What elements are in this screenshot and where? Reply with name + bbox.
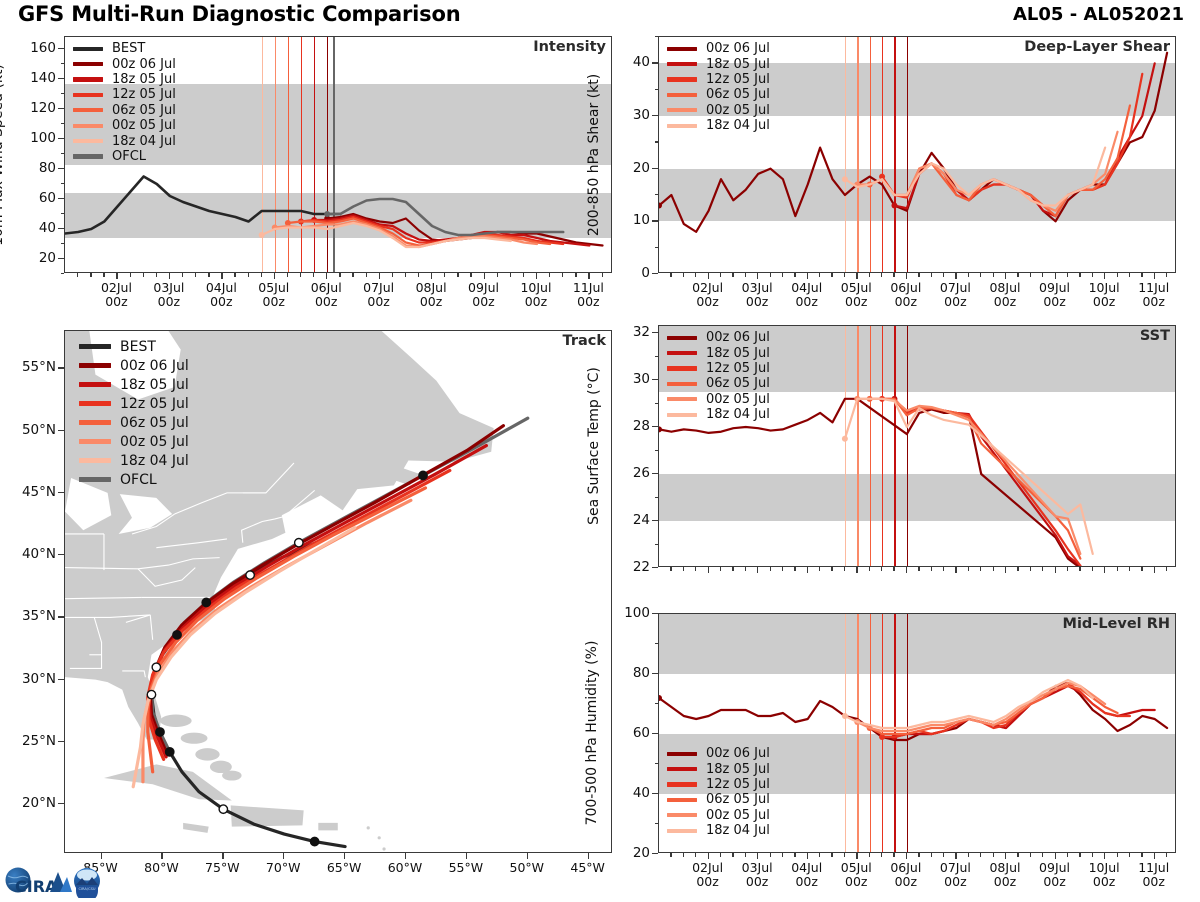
legend-entry: 18z 05 Jul <box>79 375 189 394</box>
x-minor-tick <box>1092 567 1093 571</box>
x-tick-mark <box>1055 567 1056 573</box>
legend-label: 12z 05 Jul <box>706 777 770 792</box>
series-line-06z-05-jul <box>870 105 1130 216</box>
y-tick-mark <box>58 198 64 199</box>
y-tick-label: 20 <box>14 250 56 266</box>
legend-swatch <box>73 124 103 128</box>
x-tick-hour: 00z <box>1043 874 1065 889</box>
x-tick-hour: 00z <box>1093 294 1115 309</box>
track-map-panel: BEST00z 06 Jul18z 05 Jul12z 05 Jul06z 05… <box>64 330 612 853</box>
legend-swatch <box>79 420 111 425</box>
y-tick-mark <box>652 115 658 116</box>
x-tick-hour: 00z <box>696 874 718 889</box>
sst-panel: 00z 06 Jul18z 05 Jul12z 05 Jul06z 05 Jul… <box>658 325 1176 567</box>
lat-tick-label: 20°N <box>2 795 56 811</box>
intensity-plot-area: BEST00z 06 Jul18z 05 Jul12z 05 Jul06z 05… <box>64 36 612 273</box>
x-tick-hour: 00z <box>994 294 1016 309</box>
legend-entry: 00z 06 Jul <box>73 56 176 71</box>
x-tick-hour: 00z <box>158 294 180 309</box>
y-minor-tick <box>655 36 659 37</box>
y-tick-label: 100 <box>14 130 56 146</box>
legend-label: 12z 05 Jul <box>112 87 176 102</box>
x-minor-tick <box>831 567 832 571</box>
x-tick-mark <box>1005 853 1006 859</box>
lon-tick-mark <box>283 853 284 859</box>
x-minor-tick <box>1141 273 1142 277</box>
x-minor-tick <box>1141 853 1142 857</box>
x-minor-tick <box>968 273 969 277</box>
x-tick-label: 08Jul00z <box>989 281 1020 309</box>
x-minor-tick <box>1017 273 1018 277</box>
shear-panel-label: Deep-Layer Shear <box>1024 39 1170 55</box>
x-tick-day: 04Jul <box>791 860 822 875</box>
legend-entry: 18z 04 Jul <box>667 407 770 422</box>
x-tick-hour: 00z <box>845 874 867 889</box>
x-minor-tick <box>1017 567 1018 571</box>
y-tick-label: 120 <box>14 100 56 116</box>
x-minor-tick <box>720 273 721 277</box>
legend-entry: 18z 04 Jul <box>667 823 770 838</box>
x-tick-label: 07Jul00z <box>940 861 971 889</box>
x-tick-day: 05Jul <box>841 280 872 295</box>
lon-tick-mark <box>344 853 345 859</box>
y-tick-label: 0 <box>608 265 650 281</box>
x-minor-tick <box>770 853 771 857</box>
x-minor-tick <box>745 273 746 277</box>
x-minor-tick <box>1166 853 1167 857</box>
legend-swatch <box>79 401 111 406</box>
legend-entry: 00z 05 Jul <box>73 118 176 133</box>
legend-swatch <box>667 124 697 128</box>
x-tick-day: 09Jul <box>468 280 499 295</box>
x-tick-mark <box>1104 273 1105 279</box>
track-marker-12z <box>219 805 227 813</box>
x-tick-label: 08Jul00z <box>416 281 447 309</box>
lat-tick-label: 25°N <box>2 733 56 749</box>
lat-tick-mark <box>58 616 64 617</box>
x-minor-tick <box>1117 273 1118 277</box>
x-tick-hour: 00z <box>696 294 718 309</box>
legend: BEST00z 06 Jul18z 05 Jul12z 05 Jul06z 05… <box>73 41 176 164</box>
y-tick-label: 40 <box>608 785 650 801</box>
legend-entry: 00z 06 Jul <box>79 356 189 375</box>
x-tick-mark <box>1104 853 1105 859</box>
y-minor-tick <box>61 63 65 64</box>
legend-label: 18z 05 Jul <box>706 57 770 72</box>
x-tick-hour: 00z <box>845 294 867 309</box>
x-tick-hour: 00z <box>795 294 817 309</box>
x-minor-tick <box>869 567 870 571</box>
legend-entry: 12z 05 Jul <box>667 72 770 87</box>
legend-label: OFCL <box>112 149 146 164</box>
x-minor-tick <box>720 853 721 857</box>
legend-label: 12z 05 Jul <box>706 361 770 376</box>
x-minor-tick <box>1042 273 1043 277</box>
y-minor-tick <box>655 643 659 644</box>
x-minor-tick <box>893 273 894 277</box>
track-marker-00z <box>310 837 318 845</box>
legend-swatch <box>73 93 103 97</box>
lon-tick-label: 80°W <box>144 861 179 875</box>
y-tick-mark <box>58 138 64 139</box>
x-tick-day: 09Jul <box>1039 860 1070 875</box>
x-tick-mark <box>807 853 808 859</box>
y-tick-mark <box>652 520 658 521</box>
x-tick-label: 05Jul00z <box>841 281 872 309</box>
lat-tick-mark <box>58 367 64 368</box>
x-tick-label: 07Jul00z <box>940 281 971 309</box>
y-minor-tick <box>61 123 65 124</box>
x-minor-tick <box>993 853 994 857</box>
legend-entry: 18z 05 Jul <box>667 56 770 71</box>
x-tick-hour: 00z <box>367 294 389 309</box>
y-tick-mark <box>652 426 658 427</box>
x-tick-hour: 00z <box>895 874 917 889</box>
y-minor-tick <box>655 141 659 142</box>
x-minor-tick <box>352 273 353 277</box>
x-minor-tick <box>562 273 563 277</box>
x-minor-tick <box>918 853 919 857</box>
y-tick-label: 26 <box>608 465 650 481</box>
lon-tick-label: 50°W <box>509 861 544 875</box>
x-minor-tick <box>1129 567 1130 571</box>
x-minor-tick <box>670 567 671 571</box>
lat-tick-mark <box>58 430 64 431</box>
x-minor-tick <box>844 567 845 571</box>
x-minor-tick <box>77 273 78 277</box>
x-tick-mark <box>326 273 327 279</box>
track-marker-00z <box>166 748 174 756</box>
legend-swatch <box>667 397 697 401</box>
y-tick-mark <box>652 379 658 380</box>
legend-swatch <box>667 813 697 817</box>
x-minor-tick <box>90 273 91 277</box>
x-minor-tick <box>1141 567 1142 571</box>
x-minor-tick <box>931 853 932 857</box>
x-minor-tick <box>881 273 882 277</box>
lat-tick-mark <box>58 679 64 680</box>
x-minor-tick <box>670 273 671 277</box>
x-minor-tick <box>1067 273 1068 277</box>
x-minor-tick <box>943 273 944 277</box>
x-minor-tick <box>143 273 144 277</box>
page-title: GFS Multi-Run Diagnostic Comparison <box>18 2 460 26</box>
shear-plot-area: 00z 06 Jul18z 05 Jul12z 05 Jul06z 05 Jul… <box>658 36 1176 273</box>
lat-tick-label: 40°N <box>2 546 56 562</box>
x-tick-day: 10Jul <box>1089 860 1120 875</box>
x-minor-tick <box>782 567 783 571</box>
x-minor-tick <box>831 853 832 857</box>
x-minor-tick <box>1079 273 1080 277</box>
x-tick-label: 07Jul00z <box>363 281 394 309</box>
legend-swatch <box>79 477 111 482</box>
y-minor-tick <box>655 497 659 498</box>
x-minor-tick <box>732 567 733 571</box>
x-tick-mark <box>1154 273 1155 279</box>
legend-entry: 00z 05 Jul <box>79 432 189 451</box>
legend-label: OFCL <box>120 472 157 488</box>
series-line-00z-05-jul <box>857 683 1105 731</box>
legend-swatch <box>667 47 697 51</box>
x-minor-tick <box>980 273 981 277</box>
legend-label: 18z 05 Jul <box>112 72 176 87</box>
x-tick-label: 09Jul00z <box>1039 861 1070 889</box>
y-minor-tick <box>655 403 659 404</box>
y-tick-mark <box>58 48 64 49</box>
x-minor-tick <box>1092 273 1093 277</box>
x-minor-tick <box>1117 567 1118 571</box>
y-tick-mark <box>58 168 64 169</box>
shear-panel: 00z 06 Jul18z 05 Jul12z 05 Jul06z 05 Jul… <box>658 36 1176 273</box>
legend-label: 00z 06 Jul <box>706 746 770 761</box>
series-line-18z-05-jul <box>894 399 1080 566</box>
x-minor-tick <box>405 273 406 277</box>
x-tick-mark <box>708 853 709 859</box>
legend-entry: 00z 06 Jul <box>667 330 770 345</box>
x-minor-tick <box>1030 853 1031 857</box>
x-minor-tick <box>575 273 576 277</box>
series-line-best <box>65 177 340 234</box>
x-minor-tick <box>156 273 157 277</box>
legend-entry: BEST <box>79 337 189 356</box>
x-tick-day: 10Jul <box>520 280 551 295</box>
lon-tick-mark <box>588 853 589 859</box>
y-tick-mark <box>58 78 64 79</box>
y-minor-tick <box>655 89 659 90</box>
legend-swatch <box>667 829 697 833</box>
y-tick-label: 20 <box>608 160 650 176</box>
legend-entry: 00z 06 Jul <box>667 746 770 761</box>
legend-swatch <box>73 154 103 158</box>
track-marker-12z <box>246 571 254 579</box>
x-minor-tick <box>1129 273 1130 277</box>
x-tick-day: 05Jul <box>258 280 289 295</box>
x-minor-tick <box>794 567 795 571</box>
legend-swatch <box>667 798 697 802</box>
y-tick-mark <box>652 613 658 614</box>
y-minor-tick <box>655 356 659 357</box>
series-line-00z-06-jul <box>327 214 602 246</box>
legend-swatch <box>667 767 697 771</box>
x-minor-tick <box>523 273 524 277</box>
x-tick-hour: 00z <box>1093 874 1115 889</box>
y-tick-label: 10 <box>608 212 650 228</box>
legend-label: 00z 05 Jul <box>706 808 770 823</box>
lat-tick-mark <box>58 554 64 555</box>
intensity-panel-label: Intensity <box>533 39 606 55</box>
x-minor-tick <box>130 273 131 277</box>
x-tick-mark <box>807 273 808 279</box>
x-tick-label: 06Jul00z <box>311 281 342 309</box>
legend-swatch <box>667 93 697 97</box>
x-minor-tick <box>444 273 445 277</box>
y-tick-label: 100 <box>608 605 650 621</box>
x-minor-tick <box>794 853 795 857</box>
x-tick-day: 09Jul <box>1039 280 1070 295</box>
x-minor-tick <box>457 273 458 277</box>
x-tick-day: 11Jul <box>1138 280 1169 295</box>
x-minor-tick <box>943 853 944 857</box>
x-tick-mark <box>221 273 222 279</box>
x-minor-tick <box>300 273 301 277</box>
x-tick-hour: 00z <box>795 874 817 889</box>
x-minor-tick <box>1042 853 1043 857</box>
lat-tick-mark <box>58 803 64 804</box>
x-minor-tick <box>339 273 340 277</box>
x-minor-tick <box>968 567 969 571</box>
y-tick-label: 20 <box>608 845 650 861</box>
x-minor-tick <box>918 273 919 277</box>
x-tick-mark <box>757 273 758 279</box>
y-tick-label: 160 <box>14 40 56 56</box>
legend-swatch <box>79 382 111 387</box>
x-tick-day: 07Jul <box>363 280 394 295</box>
x-tick-mark <box>708 273 709 279</box>
y-tick-label: 28 <box>608 418 650 434</box>
x-minor-tick <box>844 853 845 857</box>
x-minor-tick <box>195 273 196 277</box>
x-tick-mark <box>1154 853 1155 859</box>
y-tick-label: 40 <box>14 220 56 236</box>
series-line-12z-05-jul <box>882 74 1142 216</box>
x-minor-tick <box>470 273 471 277</box>
x-minor-tick <box>819 273 820 277</box>
legend-swatch <box>73 108 103 112</box>
legend-entry: 12z 05 Jul <box>667 361 770 376</box>
x-minor-tick <box>1079 853 1080 857</box>
x-minor-tick <box>732 273 733 277</box>
legend-swatch <box>667 382 697 386</box>
cira-logo: CIRA CIRA/CSU <box>4 858 116 898</box>
sst-plot-area: 00z 06 Jul18z 05 Jul12z 05 Jul06z 05 Jul… <box>658 325 1176 567</box>
x-tick-day: 08Jul <box>989 860 1020 875</box>
y-tick-label: 24 <box>608 512 650 528</box>
x-tick-hour: 00z <box>944 874 966 889</box>
x-tick-label: 02Jul00z <box>692 281 723 309</box>
x-tick-label: 04Jul00z <box>791 281 822 309</box>
legend-entry: 00z 05 Jul <box>667 103 770 118</box>
legend-label: 06z 05 Jul <box>120 415 189 431</box>
x-minor-tick <box>1117 853 1118 857</box>
y-minor-tick <box>61 273 65 274</box>
legend-swatch <box>667 413 697 417</box>
legend-entry: 12z 05 Jul <box>79 394 189 413</box>
x-tick-mark <box>708 567 709 573</box>
intensity-panel: BEST00z 06 Jul18z 05 Jul12z 05 Jul06z 05… <box>64 36 612 273</box>
legend-swatch <box>79 458 111 463</box>
x-minor-tick <box>103 273 104 277</box>
rh-panel-label: Mid-Level RH <box>1063 616 1170 632</box>
x-minor-tick <box>770 273 771 277</box>
x-tick-mark <box>588 273 589 279</box>
x-minor-tick <box>1166 273 1167 277</box>
y-minor-tick <box>61 153 65 154</box>
x-tick-mark <box>856 853 857 859</box>
legend-swatch <box>667 77 697 81</box>
y-minor-tick <box>655 544 659 545</box>
x-tick-label: 09Jul00z <box>468 281 499 309</box>
x-tick-label: 06Jul00z <box>890 861 921 889</box>
legend-swatch <box>667 336 697 340</box>
legend-swatch <box>79 344 111 349</box>
series-init-point <box>658 426 662 432</box>
y-tick-label: 40 <box>608 54 650 70</box>
lat-tick-mark <box>58 492 64 493</box>
x-tick-label: 05Jul00z <box>841 861 872 889</box>
legend: 00z 06 Jul18z 05 Jul12z 05 Jul06z 05 Jul… <box>667 746 770 838</box>
legend-entry: OFCL <box>79 470 189 489</box>
x-tick-mark <box>536 273 537 279</box>
legend: 00z 06 Jul18z 05 Jul12z 05 Jul06z 05 Jul… <box>667 330 770 422</box>
legend-label: BEST <box>120 339 156 355</box>
y-minor-tick <box>655 194 659 195</box>
x-tick-hour: 00z <box>105 294 127 309</box>
y-tick-mark <box>652 673 658 674</box>
x-tick-label: 11Jul00z <box>573 281 604 309</box>
x-tick-day: 06Jul <box>311 280 342 295</box>
track-legend: BEST00z 06 Jul18z 05 Jul12z 05 Jul06z 05… <box>79 337 189 489</box>
x-minor-tick <box>549 273 550 277</box>
svg-text:CIRA: CIRA <box>15 877 58 896</box>
legend-entry: 18z 04 Jul <box>79 451 189 470</box>
x-minor-tick <box>1042 567 1043 571</box>
y-axis-label: 10m Max Wind Speed (kt) <box>0 64 6 246</box>
x-tick-mark <box>906 853 907 859</box>
lat-tick-label: 30°N <box>2 671 56 687</box>
x-tick-hour: 00z <box>315 294 337 309</box>
legend-label: 18z 05 Jul <box>706 762 770 777</box>
y-minor-tick <box>655 703 659 704</box>
series-init-point <box>842 436 848 442</box>
lat-tick-mark <box>58 741 64 742</box>
x-tick-label: 02Jul00z <box>101 281 132 309</box>
x-minor-tick <box>392 273 393 277</box>
x-minor-tick <box>182 273 183 277</box>
x-tick-hour: 00z <box>263 294 285 309</box>
y-minor-tick <box>61 93 65 94</box>
y-tick-label: 30 <box>608 371 650 387</box>
track-plot-area: BEST00z 06 Jul18z 05 Jul12z 05 Jul06z 05… <box>64 330 612 853</box>
lat-tick-label: 50°N <box>2 422 56 438</box>
x-minor-tick <box>313 273 314 277</box>
track-marker-00z <box>202 598 210 606</box>
legend-label: 18z 04 Jul <box>706 823 770 838</box>
y-tick-mark <box>652 733 658 734</box>
x-tick-label: 04Jul00z <box>206 281 237 309</box>
x-minor-tick <box>968 853 969 857</box>
lon-tick-label: 75°W <box>205 861 240 875</box>
legend-label: 18z 04 Jul <box>706 118 770 133</box>
x-minor-tick <box>208 273 209 277</box>
legend-entry: OFCL <box>73 149 176 164</box>
legend-entry: 18z 05 Jul <box>667 761 770 776</box>
track-panel-label: Track <box>563 333 606 349</box>
x-tick-day: 04Jul <box>206 280 237 295</box>
y-tick-label: 30 <box>608 107 650 123</box>
y-tick-mark <box>58 258 64 259</box>
lon-tick-label: 45°W <box>570 861 605 875</box>
x-tick-label: 10Jul00z <box>1089 861 1120 889</box>
x-minor-tick <box>770 567 771 571</box>
legend-label: 12z 05 Jul <box>706 72 770 87</box>
x-minor-tick <box>943 567 944 571</box>
y-tick-mark <box>58 108 64 109</box>
series-line-18z-04-jul <box>845 680 1093 728</box>
x-tick-label: 09Jul00z <box>1039 281 1070 309</box>
x-minor-tick <box>366 273 367 277</box>
y-minor-tick <box>655 823 659 824</box>
x-tick-label: 08Jul00z <box>989 861 1020 889</box>
